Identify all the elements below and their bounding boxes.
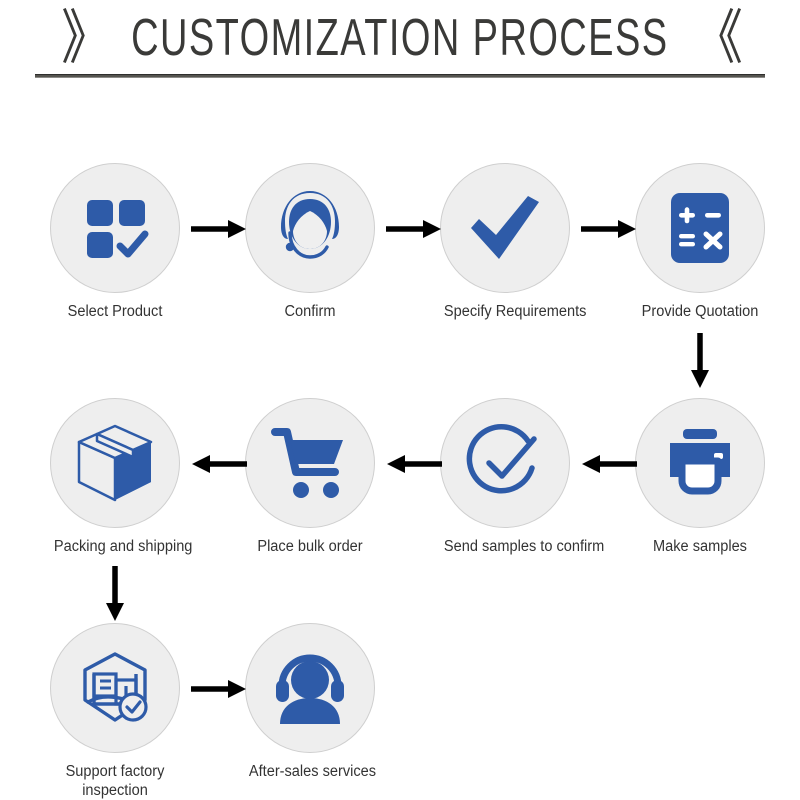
chevron-double-right-icon: 》 bbox=[61, 9, 107, 68]
shopping-cart-icon bbox=[271, 426, 349, 500]
arrow-down-left-column bbox=[104, 565, 126, 623]
step-after-sales-services[interactable]: After-sales services bbox=[245, 623, 375, 781]
arrow-right-1 bbox=[190, 218, 248, 240]
package-box-icon bbox=[75, 424, 155, 502]
step-icon-circle bbox=[245, 623, 375, 753]
step-support-factory-inspection[interactable]: Support factory inspection bbox=[50, 623, 180, 800]
step-packing-and-shipping[interactable]: Packing and shipping bbox=[50, 398, 180, 556]
step-place-bulk-order[interactable]: Place bulk order bbox=[245, 398, 375, 556]
arrow-left-1 bbox=[190, 453, 248, 475]
step-icon-circle bbox=[635, 398, 765, 528]
step-icon-circle bbox=[245, 163, 375, 293]
step-send-samples-to-confirm[interactable]: Send samples to confirm bbox=[440, 398, 570, 556]
step-provide-quotation[interactable]: Provide Quotation bbox=[635, 163, 765, 321]
customization-process-infographic: 》 CUSTOMIZATION PROCESS 《 Select Product bbox=[0, 0, 800, 800]
arrow-right-4 bbox=[190, 678, 248, 700]
circle-check-icon bbox=[465, 423, 545, 503]
calculator-icon bbox=[665, 189, 735, 267]
step-icon-circle bbox=[440, 398, 570, 528]
step-confirm[interactable]: Confirm bbox=[245, 163, 375, 321]
chevron-double-left-icon: 《 bbox=[693, 9, 739, 68]
arrow-left-2 bbox=[385, 453, 443, 475]
grid-check-icon bbox=[79, 192, 151, 264]
arrow-right-3 bbox=[580, 218, 638, 240]
page-title: CUSTOMIZATION PROCESS bbox=[126, 9, 675, 68]
step-label: Make samples bbox=[639, 537, 761, 556]
step-label: Packing and shipping bbox=[54, 537, 176, 556]
step-select-product[interactable]: Select Product bbox=[50, 163, 180, 321]
arrow-down-right-column bbox=[689, 332, 711, 390]
step-icon-circle bbox=[635, 163, 765, 293]
step-icon-circle bbox=[440, 163, 570, 293]
step-icon-circle bbox=[50, 623, 180, 753]
step-label: Provide Quotation bbox=[639, 302, 761, 321]
step-icon-circle bbox=[245, 398, 375, 528]
headset-person-icon bbox=[270, 652, 350, 724]
step-label: Place bulk order bbox=[249, 537, 371, 556]
step-icon-circle bbox=[50, 163, 180, 293]
step-make-samples[interactable]: Make samples bbox=[635, 398, 765, 556]
title-divider bbox=[35, 74, 765, 78]
checkmark-icon bbox=[465, 188, 545, 268]
page-header: 》 CUSTOMIZATION PROCESS 《 bbox=[0, 0, 800, 90]
factory-shield-check-icon bbox=[76, 650, 154, 726]
step-specify-requirements[interactable]: Specify Requirements bbox=[440, 163, 570, 321]
step-label: Confirm bbox=[249, 302, 371, 321]
operator-headset-icon bbox=[271, 189, 349, 267]
arrow-right-2 bbox=[385, 218, 443, 240]
printer-icon bbox=[662, 427, 738, 499]
step-label: Support factory inspection bbox=[54, 762, 176, 800]
title-row: 》 CUSTOMIZATION PROCESS 《 bbox=[0, 8, 800, 68]
step-icon-circle bbox=[50, 398, 180, 528]
step-label: Send samples to confirm bbox=[444, 537, 566, 556]
step-label: Select Product bbox=[54, 302, 176, 321]
step-label: After-sales services bbox=[249, 762, 371, 781]
arrow-left-3 bbox=[580, 453, 638, 475]
step-label: Specify Requirements bbox=[444, 302, 566, 321]
